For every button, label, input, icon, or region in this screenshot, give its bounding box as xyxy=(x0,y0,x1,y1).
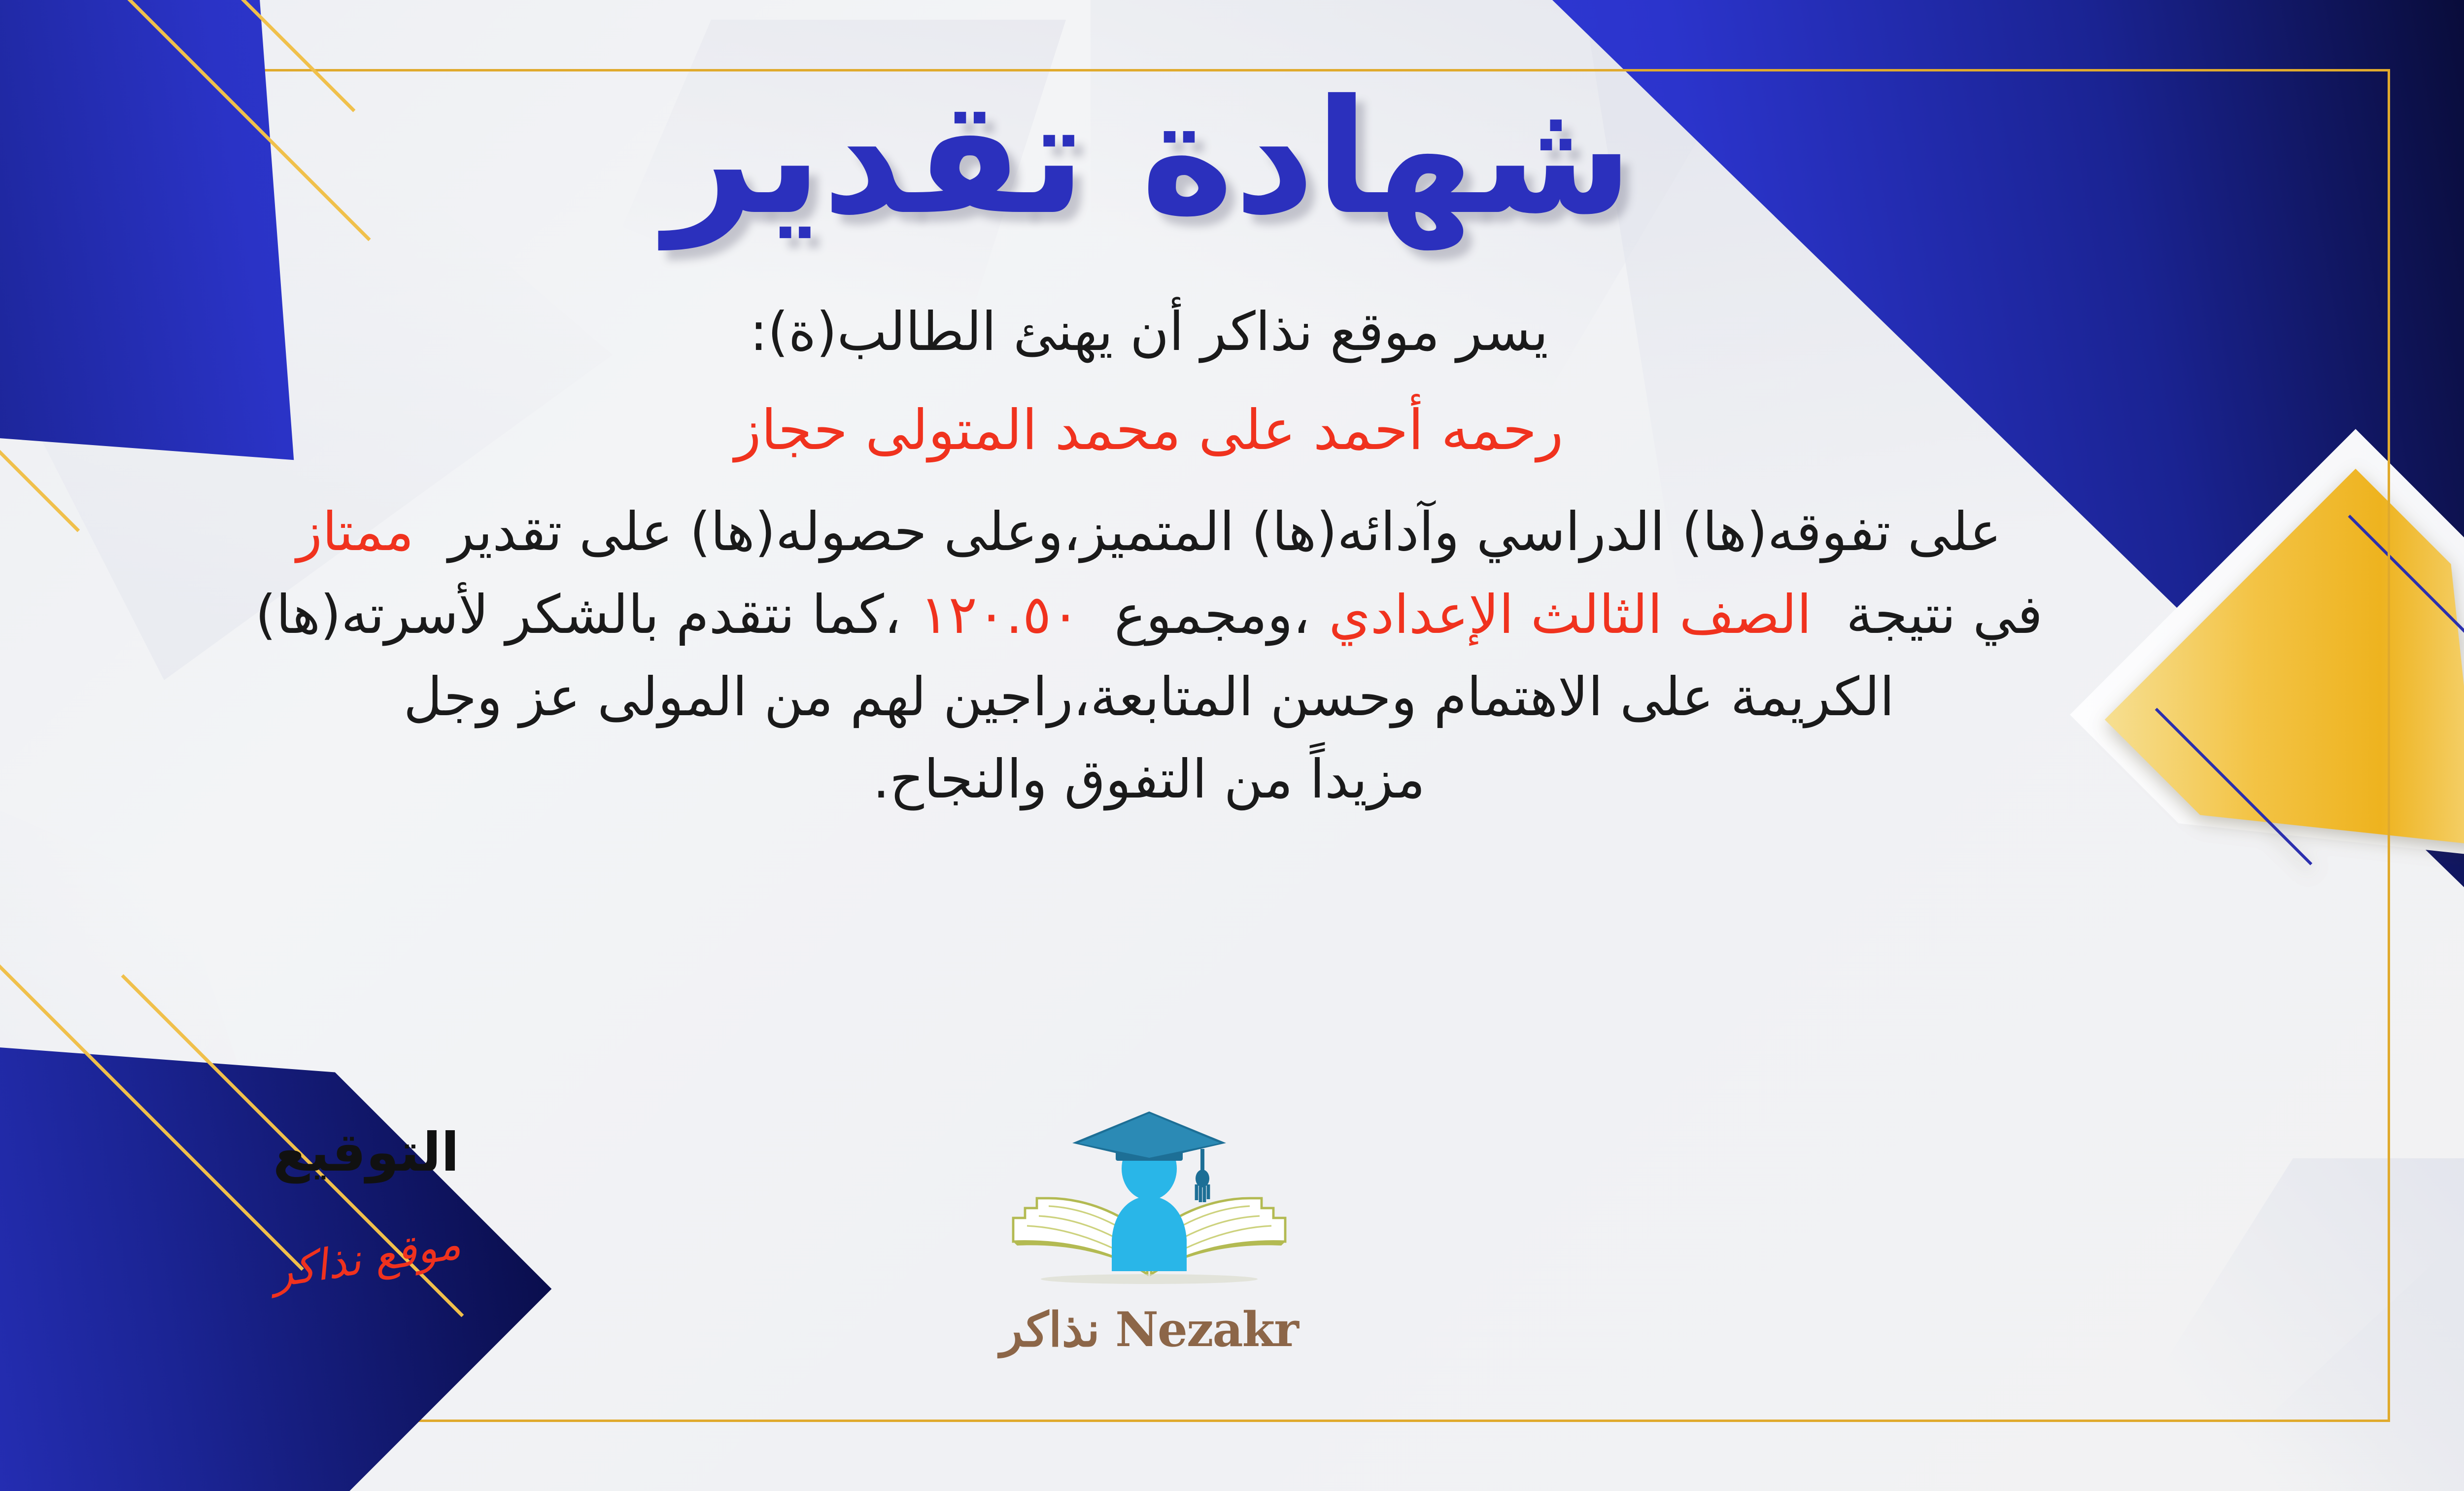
result-prefix: في نتيجة xyxy=(1846,584,2043,646)
certificate-body: يسر موقع نذاكر أن يهنئ الطالب(ة): رحمه أ… xyxy=(90,291,2209,821)
closing-line: مزيداً من التفوق والنجاح. xyxy=(90,738,2209,821)
intro-line: يسر موقع نذاكر أن يهنئ الطالب(ة): xyxy=(90,291,2209,373)
family-line: الكريمة على الاهتمام وحسن المتابعة،راجين… xyxy=(90,656,2209,738)
achievement-line: على تفوقه(ها) الدراسي وآدائه(ها) المتميز… xyxy=(90,491,2209,573)
total-prefix: ،ومجموع xyxy=(1114,584,1310,646)
achievement-text: على تفوقه(ها) الدراسي وآدائه(ها) المتميز… xyxy=(448,501,2001,563)
nezakr-logo: Nezakr نذاكر xyxy=(927,1102,1371,1407)
signature-mark: موقع نذاكر xyxy=(269,1219,464,1297)
graduate-book-logo-icon xyxy=(992,1102,1307,1299)
certificate-title: شهادة تقدير xyxy=(665,79,1633,237)
thanks-text: ،كما نتقدم بالشكر لأسرته(ها) xyxy=(255,584,901,646)
grade-value: ممتاز xyxy=(297,501,414,563)
certificate-footer: التوقيع موقع نذاكر xyxy=(0,1087,2464,1402)
total-value: ١٢٠.٥٠ xyxy=(920,584,1080,646)
class-total-line: في نتيجةالصف الثالث الإعدادي،ومجموع١٢٠.٥… xyxy=(90,574,2209,656)
signature-block: التوقيع موقع نذاكر xyxy=(208,1126,524,1283)
logo-brand-text: Nezakr نذاكر xyxy=(1000,1302,1298,1357)
student-name: رحمه أحمد على محمد المتولى حجاز xyxy=(90,392,2209,469)
signature-label: التوقيع xyxy=(208,1126,524,1179)
class-value: الصف الثالث الإعدادي xyxy=(1329,584,1812,646)
certificate-page: شهادة تقدير يسر موقع نذاكر أن يهنئ الطال… xyxy=(0,0,2464,1491)
